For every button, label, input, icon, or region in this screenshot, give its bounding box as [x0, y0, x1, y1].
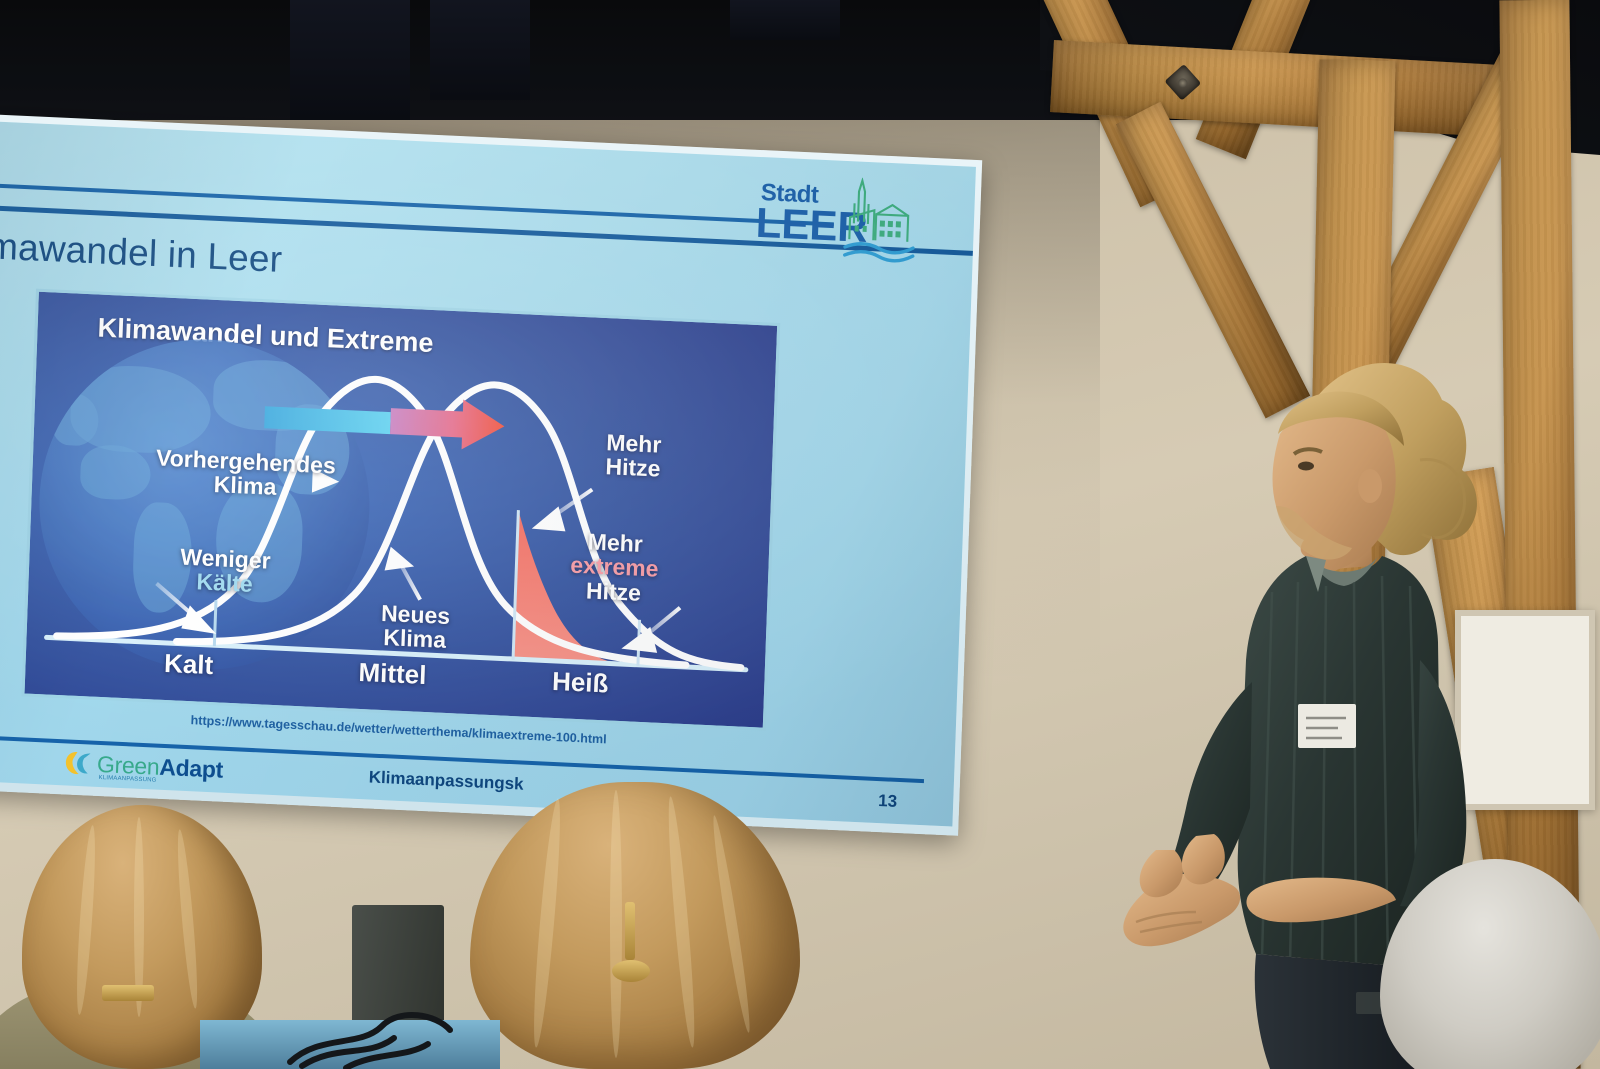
logo-adapt: Adapt [159, 753, 224, 782]
shift-arrow-icon [390, 396, 506, 451]
projection-screen: Klimawandel in Leer Stadt LEER [0, 120, 976, 827]
hair-clip [625, 902, 635, 960]
footer-center-text: Klimaanpassungsk [368, 767, 524, 794]
label-weniger-kaelte: Weniger Kälte [140, 543, 310, 599]
presentation-slide: Klimawandel in Leer Stadt LEER [0, 120, 976, 827]
presenter-eye [1298, 462, 1314, 471]
cold-shift-bar [264, 406, 391, 434]
chart-panel: Klimawandel und Extreme [21, 289, 780, 731]
greenadapt-subtitle: KLIMAANPASSUNG [98, 775, 156, 784]
greenadapt-leaf-icon [64, 749, 95, 776]
hair-clip [612, 960, 650, 982]
ceiling-panel [730, 0, 840, 40]
presentation-photo-scene: Klimawandel in Leer Stadt LEER [0, 0, 1600, 1069]
hair-tie [102, 985, 154, 1001]
header-rule-top [0, 182, 834, 226]
presenter-name-badge [1298, 704, 1356, 748]
ceiling-panel [430, 0, 530, 100]
label-neues-klima: Neues Klima [348, 599, 482, 654]
stadt-leer-logo: Stadt LEER [754, 171, 917, 270]
cables [250, 1000, 510, 1069]
slide-title: Klimawandel in Leer [0, 223, 283, 281]
leer-townhall-icon [828, 176, 917, 268]
label-mehr-hitze: Mehr Hitze [553, 428, 715, 484]
label-mehr-extreme-hitze: Mehr extreme Hitze [528, 527, 700, 608]
ceiling-panel [290, 0, 410, 120]
beam-bolt-icon [1164, 64, 1201, 101]
footer-page-number: 13 [878, 791, 898, 812]
